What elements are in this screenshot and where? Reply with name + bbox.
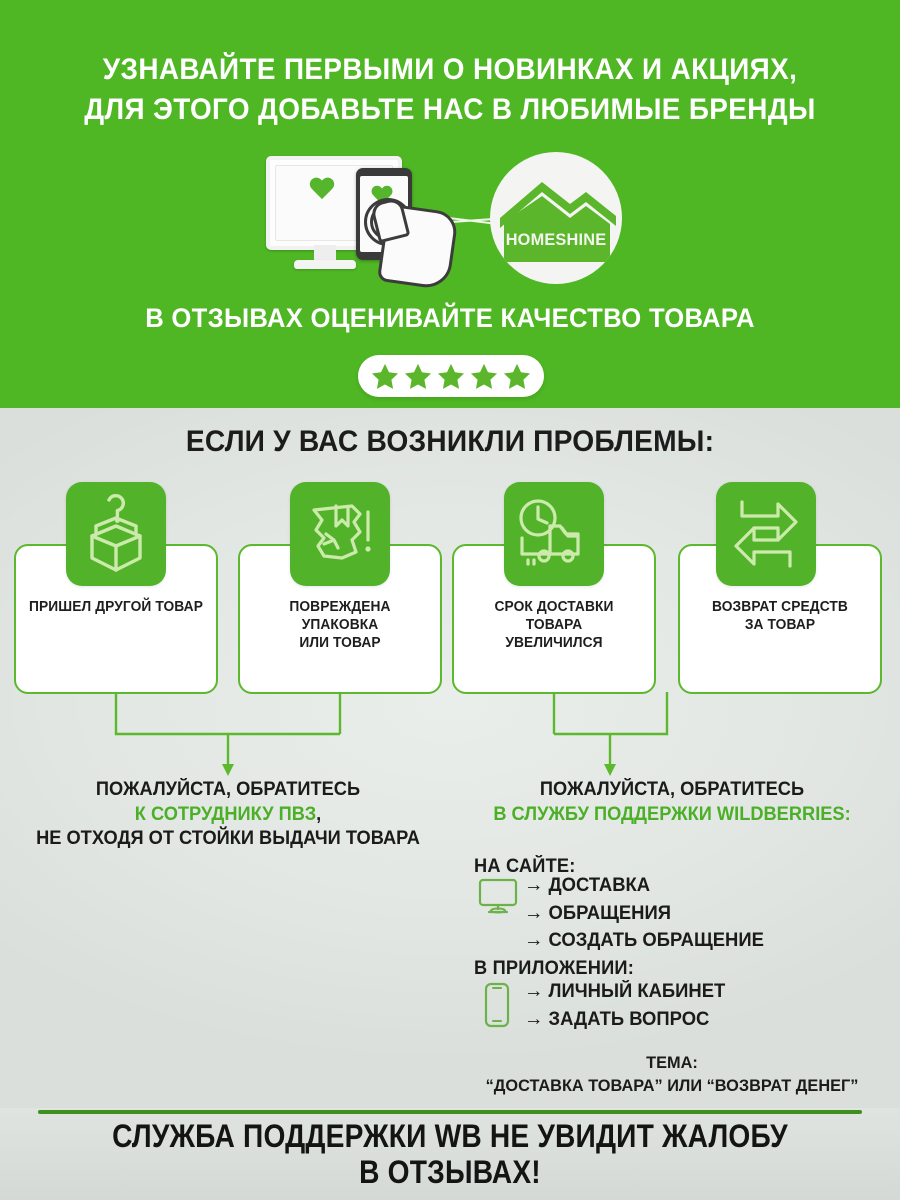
arrow-right-icon: → [524, 1008, 543, 1030]
heart-icon-monitor [309, 178, 335, 202]
hero-title: УЗНАВАЙТЕ ПЕРВЫМИ О НОВИНКАХ И АКЦИЯХ, Д… [32, 50, 869, 129]
favorites-illustration: HOMESHINE [258, 150, 658, 285]
footer-warning: СЛУЖБА ПОДДЕРЖКИ WB НЕ УВИДИТ ЖАЛОБУ В О… [54, 1118, 846, 1191]
footer-divider [38, 1110, 862, 1114]
app-step-item: → ЗАДАТЬ ВОПРОС [524, 1006, 725, 1034]
pvz-line1: ПОЖАЛУЙСТА, ОБРАТИТЕСЬ [9, 778, 447, 803]
brand-logo-badge: HOMESHINE [490, 152, 622, 284]
app-heading: В ПРИЛОЖЕНИИ: [474, 958, 634, 980]
star-icon [436, 362, 466, 391]
exchange-arrows-icon [716, 482, 816, 586]
hero-banner: УЗНАВАЙТЕ ПЕРВЫМИ О НОВИНКАХ И АКЦИЯХ, Д… [0, 0, 900, 408]
monitor-foot [294, 260, 356, 269]
problem-card-label: ПРИШЕЛ ДРУГОЙ ТОВАР [29, 598, 204, 616]
site-step-item: → ОБРАЩЕНИЯ [524, 900, 764, 928]
footer-warning-line1: СЛУЖБА ПОДДЕРЖКИ WB НЕ УВИДИТ ЖАЛОБУ [54, 1118, 846, 1154]
footer-warning-line2: В ОТЗЫВАХ! [54, 1154, 846, 1190]
support-line1: ПОЖАЛУЙСТА, ОБРАТИТЕСЬ [453, 778, 891, 803]
pvz-line2: К СОТРУДНИКУ ПВЗ, [9, 803, 447, 828]
arrow-right-icon: → [524, 929, 543, 951]
phone-icon-small [482, 982, 512, 1033]
star-icon [403, 362, 433, 391]
pvz-highlight: К СОТРУДНИКУ ПВЗ [135, 804, 316, 825]
site-step-item: → ДОСТАВКА [524, 872, 764, 900]
flow-connectors [0, 690, 900, 780]
brand-logo-text: HOMESHINE [493, 230, 620, 250]
problem-card-label: ПОВРЕЖДЕНА УПАКОВКА ИЛИ ТОВАР [253, 598, 428, 652]
theme-value: “ДОСТАВКА ТОВАРА” ИЛИ “ВОЗВРАТ ДЕНЕГ” [453, 1075, 891, 1098]
roof-icon [490, 152, 622, 284]
site-steps-list: → ДОСТАВКА → ОБРАЩЕНИЯ → СОЗДАТЬ ОБРАЩЕН… [524, 872, 764, 955]
infographic-page: УЗНАВАЙТЕ ПЕРВЫМИ О НОВИНКАХ И АКЦИЯХ, Д… [0, 0, 900, 1200]
pvz-instruction: ПОЖАЛУЙСТА, ОБРАТИТЕСЬ К СОТРУДНИКУ ПВЗ,… [9, 778, 447, 852]
hero-title-line1: УЗНАВАЙТЕ ПЕРВЫМИ О НОВИНКАХ И АКЦИЯХ, [103, 53, 797, 86]
app-step-item: → ЛИЧНЫЙ КАБИНЕТ [524, 978, 725, 1006]
monitor-stand [314, 245, 336, 261]
star-icon [370, 362, 400, 391]
problems-heading: ЕСЛИ У ВАС ВОЗНИКЛИ ПРОБЛЕМЫ: [27, 425, 873, 459]
damaged-package-icon [290, 482, 390, 586]
problem-card-label: СРОК ДОСТАВКИ ТОВАРА УВЕЛИЧИЛСЯ [467, 598, 642, 652]
problem-card-label: ВОЗВРАТ СРЕДСТВ ЗА ТОВАР [693, 598, 868, 634]
arrow-right-icon: → [524, 980, 543, 1002]
app-steps-list: → ЛИЧНЫЙ КАБИНЕТ → ЗАДАТЬ ВОПРОС [524, 978, 725, 1033]
support-highlight: В СЛУЖБУ ПОДДЕРЖКИ WILDBERRIES: [453, 803, 891, 828]
support-instruction: ПОЖАЛУЙСТА, ОБРАТИТЕСЬ В СЛУЖБУ ПОДДЕРЖК… [453, 778, 891, 827]
pvz-line3: НЕ ОТХОДЯ ОТ СТОЙКИ ВЫДАЧИ ТОВАРА [9, 827, 447, 852]
arrow-right-icon: → [524, 902, 543, 924]
theme-heading: ТЕМА: [453, 1052, 891, 1075]
pvz-comma: , [316, 804, 321, 825]
site-step-item: → СОЗДАТЬ ОБРАЩЕНИЕ [524, 927, 764, 955]
star-icon [502, 362, 532, 391]
open-box-question-icon [66, 482, 166, 586]
hero-subtitle: В ОТЗЫВАХ ОЦЕНИВАЙТЕ КАЧЕСТВО ТОВАРА [23, 303, 878, 334]
star-icon [469, 362, 499, 391]
theme-block: ТЕМА: “ДОСТАВКА ТОВАРА” ИЛИ “ВОЗВРАТ ДЕН… [453, 1052, 891, 1097]
rating-stars [358, 355, 544, 397]
arrow-right-icon: → [524, 874, 543, 896]
delivery-truck-clock-icon [504, 482, 604, 586]
hero-title-line2: ДЛЯ ЭТОГО ДОБАВЬТЕ НАС В ЛЮБИМЫЕ БРЕНДЫ [32, 90, 869, 130]
problem-cards: ПРИШЕЛ ДРУГОЙ ТОВАР ПОВРЕЖДЕНА УПАКОВКА … [0, 482, 900, 697]
monitor-icon-small [478, 878, 518, 921]
